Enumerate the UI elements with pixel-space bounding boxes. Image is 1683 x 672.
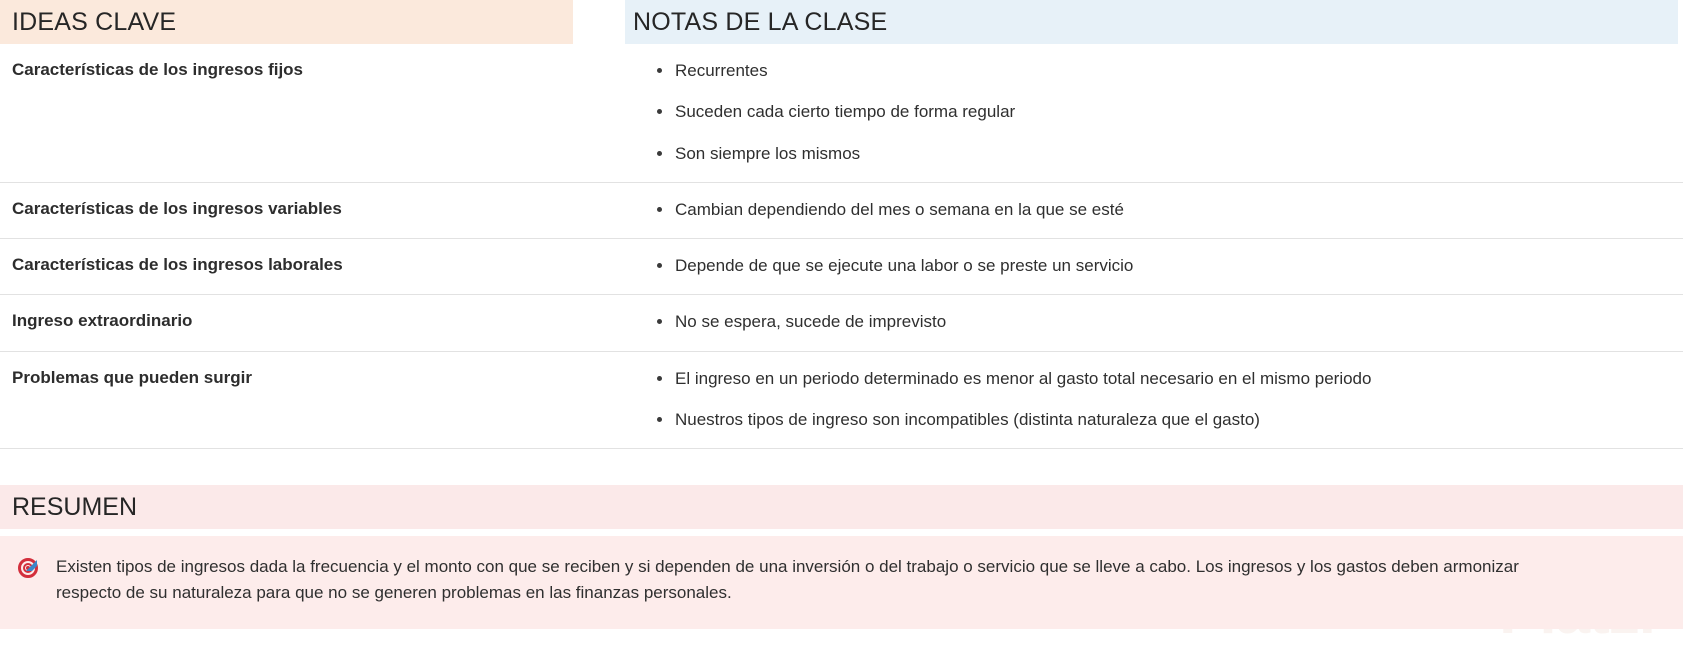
table-row: Características de los ingresos variable… (0, 183, 625, 239)
bullet-icon (657, 207, 662, 212)
list-item: Cambian dependiendo del mes o semana en … (643, 199, 1669, 220)
table-row: Recurrentes Suceden cada cierto tiempo d… (625, 44, 1683, 183)
idea-label: Características de los ingresos variable… (12, 199, 342, 218)
resumen-section: RESUMEN Existen tipos de ingresos dada l… (0, 485, 1683, 629)
resumen-title: RESUMEN (0, 485, 1683, 529)
note-text: Cambian dependiendo del mes o semana en … (675, 200, 1124, 219)
note-text: Son siempre los mismos (675, 144, 860, 163)
notes-list: Cambian dependiendo del mes o semana en … (643, 199, 1669, 220)
notes-table: IDEAS CLAVE NOTAS DE LA CLASE Caracterís… (0, 0, 1683, 449)
bullet-icon (657, 417, 662, 422)
note-text: Suceden cada cierto tiempo de forma regu… (675, 102, 1015, 121)
idea-label: Problemas que pueden surgir (12, 368, 252, 387)
note-text: Recurrentes (675, 61, 768, 80)
note-text: El ingreso en un periodo determinado es … (675, 369, 1371, 388)
table-row: Problemas que pueden surgir (0, 352, 625, 450)
ideas-header-cell: IDEAS CLAVE (0, 0, 625, 44)
note-text: No se espera, sucede de imprevisto (675, 312, 946, 331)
notas-de-la-clase-title: NOTAS DE LA CLASE (625, 0, 1678, 44)
list-item: Recurrentes (643, 60, 1669, 81)
resumen-text: Existen tipos de ingresos dada la frecue… (56, 554, 1526, 607)
note-text: Nuestros tipos de ingreso son incompatib… (675, 410, 1260, 429)
bullet-icon (657, 376, 662, 381)
notes-list: Recurrentes Suceden cada cierto tiempo d… (643, 60, 1669, 164)
table-row: Características de los ingresos fijos (0, 44, 625, 183)
table-row: Ingreso extraordinario (0, 295, 625, 351)
notas-header-cell: NOTAS DE LA CLASE (625, 0, 1683, 44)
resumen-body: Existen tipos de ingresos dada la frecue… (0, 536, 1683, 629)
table-row: El ingreso en un periodo determinado es … (625, 352, 1683, 450)
bullet-icon (657, 68, 662, 73)
list-item: El ingreso en un periodo determinado es … (643, 368, 1669, 389)
ideas-clave-title: IDEAS CLAVE (0, 0, 573, 44)
notes-list: El ingreso en un periodo determinado es … (643, 368, 1669, 431)
notes-page: Platzi IDEAS CLAVE NOTAS DE LA CLASE Car… (0, 0, 1683, 672)
bullet-icon (657, 319, 662, 324)
idea-label: Ingreso extraordinario (12, 311, 192, 330)
note-text: Depende de que se ejecute una labor o se… (675, 256, 1133, 275)
bullet-icon (657, 151, 662, 156)
bullet-icon (657, 263, 662, 268)
list-item: No se espera, sucede de imprevisto (643, 311, 1669, 332)
list-item: Nuestros tipos de ingreso son incompatib… (643, 409, 1669, 430)
idea-label: Características de los ingresos fijos (12, 60, 303, 79)
target-dart-icon (18, 558, 40, 580)
list-item: Depende de que se ejecute una labor o se… (643, 255, 1669, 276)
bullet-icon (657, 109, 662, 114)
table-row: Depende de que se ejecute una labor o se… (625, 239, 1683, 295)
idea-label: Características de los ingresos laborale… (12, 255, 343, 274)
table-row: Características de los ingresos laborale… (0, 239, 625, 295)
table-row: Cambian dependiendo del mes o semana en … (625, 183, 1683, 239)
list-item: Suceden cada cierto tiempo de forma regu… (643, 101, 1669, 122)
notes-list: Depende de que se ejecute una labor o se… (643, 255, 1669, 276)
list-item: Son siempre los mismos (643, 143, 1669, 164)
table-row: No se espera, sucede de imprevisto (625, 295, 1683, 351)
notes-list: No se espera, sucede de imprevisto (643, 311, 1669, 332)
